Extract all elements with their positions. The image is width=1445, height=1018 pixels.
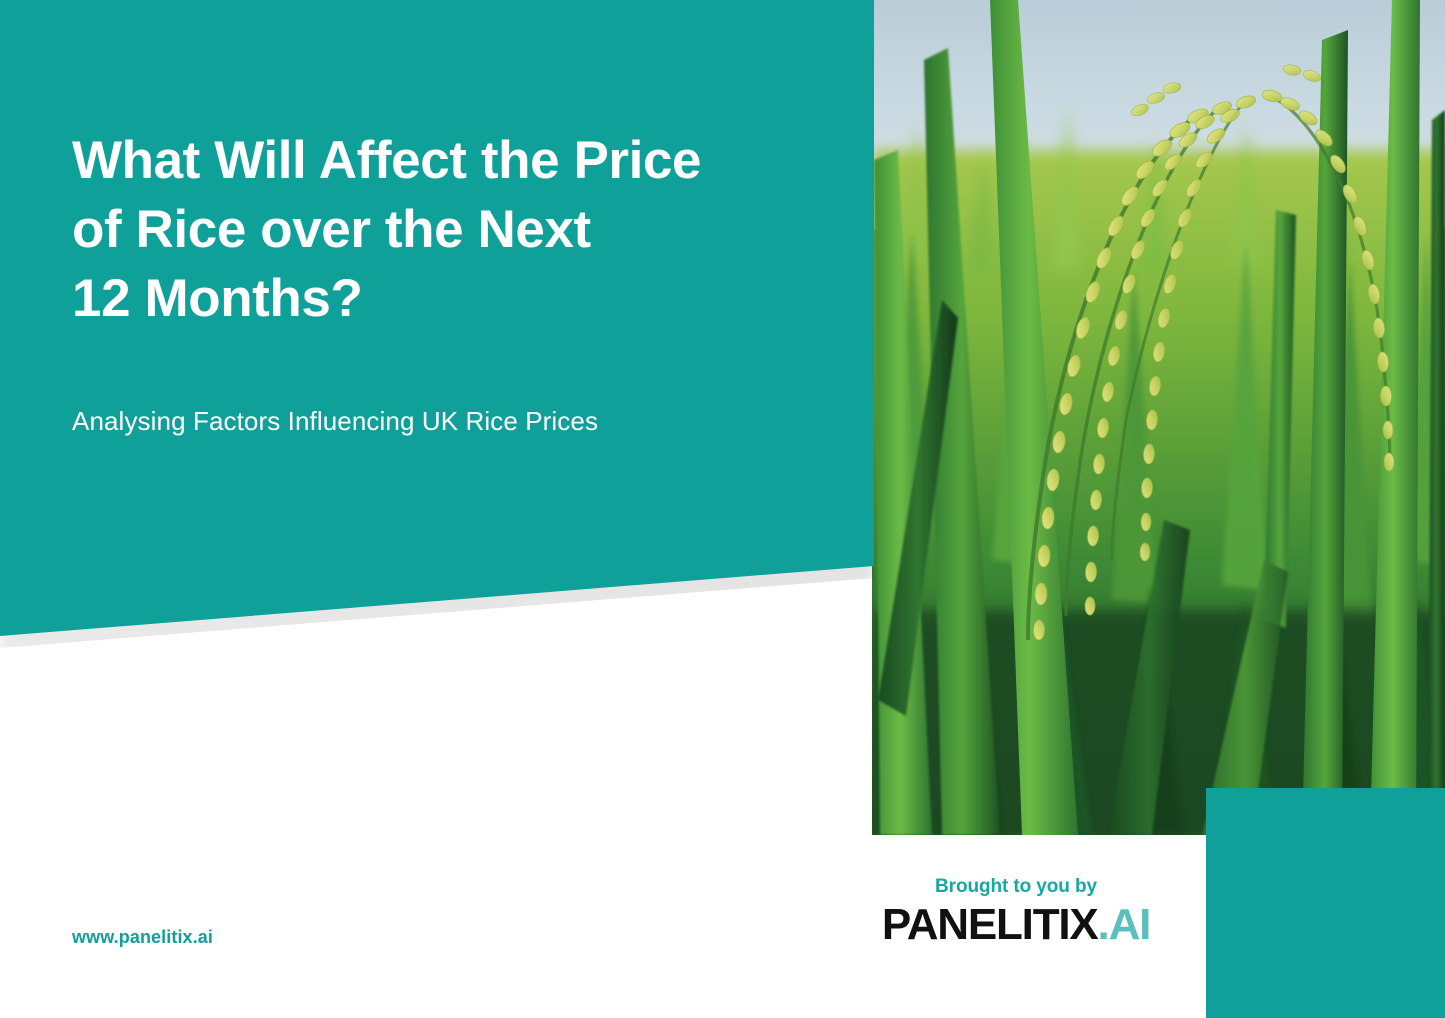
page-subtitle: Analysing Factors Influencing UK Rice Pr… [72,404,598,438]
logo-suffix: .AI [1098,900,1151,949]
teal-accent-square [1206,788,1445,1018]
brought-to-you-by-label: Brought to you by [871,876,1161,898]
rice-field-illustration [872,0,1445,835]
website-url[interactable]: www.panelitix.ai [72,927,213,948]
page-title: What Will Affect the Price of Rice over … [72,126,832,333]
report-cover-slide: What Will Affect the Price of Rice over … [0,0,1445,1018]
title-block: What Will Affect the Price of Rice over … [72,126,832,333]
logo-wordmark: PANELITIX [882,900,1098,949]
page-title-line-3: 12 Months? [72,264,832,333]
page-title-line-1: What Will Affect the Price [72,126,832,195]
branding-block: Brought to you by PANELITIX.AI [871,876,1161,950]
panelitix-logo: PANELITIX.AI [871,900,1161,950]
page-title-line-2: of Rice over the Next [72,195,832,264]
rice-field-photo [872,0,1445,835]
